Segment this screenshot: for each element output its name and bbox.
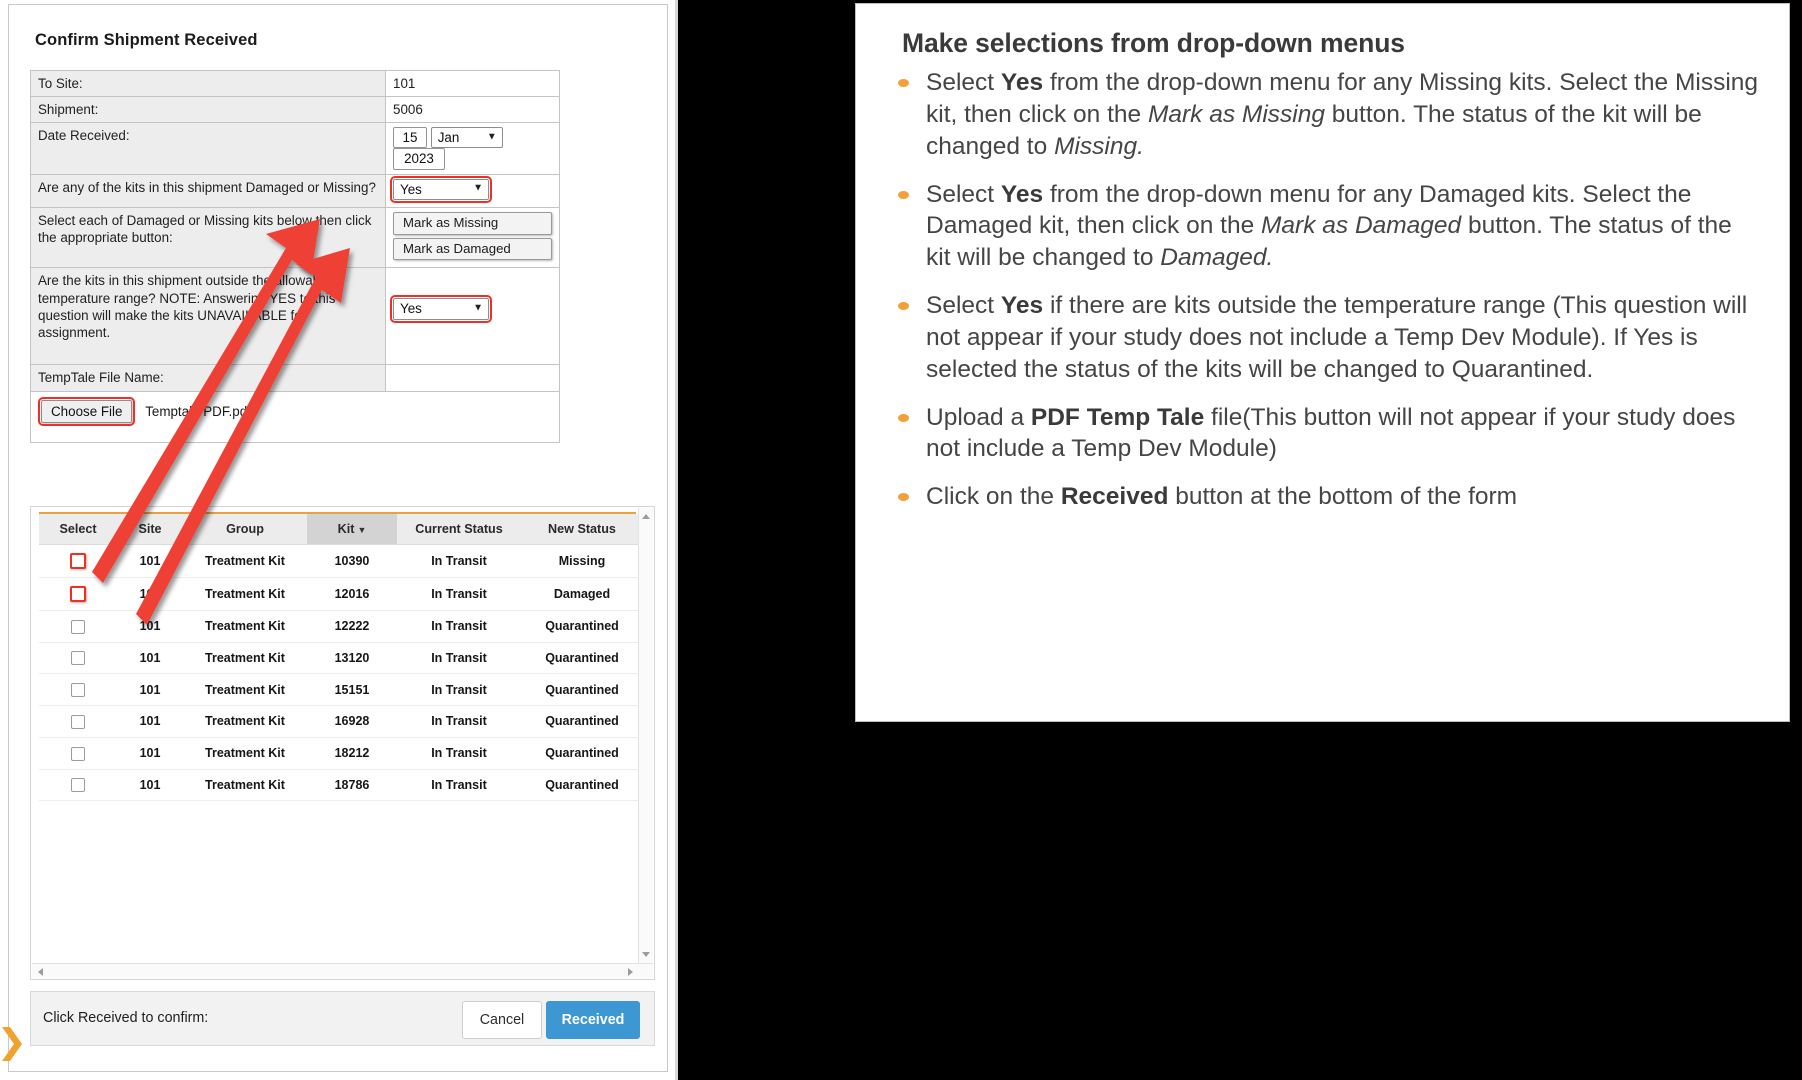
- kit-table: Select Site Group Kit▼ Current Status Ne…: [39, 514, 643, 801]
- uploaded-file-name: Temptale PDF.pdf: [145, 404, 251, 419]
- cell-site: 101: [117, 769, 183, 801]
- table-row[interactable]: 101Treatment Kit10390In TransitMissing: [39, 545, 643, 578]
- cell-new-status: Quarantined: [521, 706, 643, 738]
- row-select-cell[interactable]: [39, 674, 117, 706]
- date-received-label: Date Received:: [31, 123, 386, 174]
- mark-as-missing-button[interactable]: Mark as Missing: [393, 212, 552, 235]
- cell-site: 101: [117, 578, 183, 611]
- shipment-label: Shipment:: [31, 97, 386, 123]
- kit-table-body: 101Treatment Kit10390In TransitMissing10…: [39, 545, 643, 801]
- damaged-missing-dropdown-value: Yes: [400, 182, 422, 197]
- cell-new-status: Quarantined: [521, 642, 643, 674]
- table-row-date-received: Date Received: 15 Jan ▼ 2023: [31, 123, 560, 174]
- cell-current-status: In Transit: [397, 545, 521, 578]
- received-button[interactable]: Received: [546, 1001, 640, 1039]
- cell-site: 101: [117, 611, 183, 643]
- checkbox-icon[interactable]: [71, 715, 85, 729]
- cell-group: Treatment Kit: [183, 611, 307, 643]
- instructions-list: Select Yes from the drop-down menu for a…: [884, 67, 1759, 513]
- bullet-temp-b1: Yes: [1001, 292, 1043, 319]
- checkbox-icon[interactable]: [71, 778, 85, 792]
- cancel-button[interactable]: Cancel: [462, 1001, 542, 1039]
- table-row[interactable]: 101Treatment Kit12016In TransitDamaged: [39, 578, 643, 611]
- row-select-cell[interactable]: [39, 706, 117, 738]
- cell-new-status: Quarantined: [521, 769, 643, 801]
- bullet-damaged-i1: Mark as Damaged: [1261, 212, 1461, 239]
- cell-new-status: Quarantined: [521, 674, 643, 706]
- column-header-site[interactable]: Site: [117, 514, 183, 545]
- month-select-value: Jan: [438, 130, 460, 145]
- cell-current-status: In Transit: [397, 642, 521, 674]
- shipment-value: 5006: [386, 97, 560, 123]
- cell-group: Treatment Kit: [183, 769, 307, 801]
- table-row-damaged-question: Are any of the kits in this shipment Dam…: [31, 174, 560, 207]
- cell-kit: 18212: [307, 737, 397, 769]
- list-item-received: Click on the Received button at the bott…: [884, 481, 1759, 513]
- bullet-damaged-p1: Select: [926, 181, 1001, 208]
- orange-chevron-icon: [2, 1027, 22, 1061]
- cell-group: Treatment Kit: [183, 674, 307, 706]
- damaged-question-control: Yes ▼: [386, 174, 560, 207]
- temperature-range-dropdown-value: Yes: [400, 301, 422, 316]
- bullet-upload-b1: PDF Temp Tale: [1031, 404, 1204, 431]
- list-item-upload: Upload a PDF Temp Tale file(This button …: [884, 402, 1759, 466]
- to-site-label: To Site:: [31, 71, 386, 97]
- bullet-damaged-i2: Damaged.: [1160, 244, 1273, 271]
- shipment-form-screenshot: Confirm Shipment Received To Site: 101 S…: [0, 0, 678, 1080]
- bullet-upload-p1: Upload a: [926, 404, 1031, 431]
- cell-current-status: In Transit: [397, 737, 521, 769]
- bullet-missing-i2: Missing.: [1054, 133, 1144, 160]
- cell-site: 101: [117, 706, 183, 738]
- list-item-temperature: Select Yes if there are kits outside the…: [884, 290, 1759, 386]
- list-item-missing: Select Yes from the drop-down menu for a…: [884, 67, 1759, 163]
- bullet-dot-icon: [898, 493, 909, 501]
- to-site-value: 101: [386, 71, 560, 97]
- table-row-file-upload: Choose File Temptale PDF.pdf: [31, 391, 560, 442]
- chevron-down-icon: ▼: [473, 184, 483, 194]
- bullet-received-b1: Received: [1061, 483, 1169, 510]
- choose-file-button[interactable]: Choose File: [41, 400, 132, 423]
- temp-question-text: Are the kits in this shipment outside th…: [38, 273, 335, 339]
- month-select[interactable]: Jan ▼: [431, 127, 503, 148]
- table-row[interactable]: 101Treatment Kit15151In TransitQuarantin…: [39, 674, 643, 706]
- temptale-file-name-label: TempTale File Name:: [31, 365, 386, 391]
- scroll-up-icon[interactable]: [642, 514, 650, 519]
- cell-current-status: In Transit: [397, 769, 521, 801]
- bullet-missing-p1: Select: [926, 69, 1001, 96]
- bullet-temp-p1: Select: [926, 292, 1001, 319]
- table-row-shipment: Shipment: 5006: [31, 97, 560, 123]
- checkbox-icon[interactable]: [71, 620, 85, 634]
- temp-question-control: Yes ▼: [386, 268, 560, 365]
- footer-instruction-text: Click Received to confirm:: [43, 1010, 208, 1026]
- cell-current-status: In Transit: [397, 674, 521, 706]
- file-upload-cell: Choose File Temptale PDF.pdf: [31, 391, 560, 442]
- table-row[interactable]: 101Treatment Kit16928In TransitQuarantin…: [39, 706, 643, 738]
- checkbox-icon[interactable]: [71, 683, 85, 697]
- bullet-dot-icon: [898, 191, 909, 199]
- cell-group: Treatment Kit: [183, 737, 307, 769]
- table-row[interactable]: 101Treatment Kit12222In TransitQuarantin…: [39, 611, 643, 643]
- scroll-down-icon[interactable]: [642, 952, 650, 957]
- shipment-info-table: To Site: 101 Shipment: 5006 Date Receive…: [30, 70, 560, 443]
- cell-group: Treatment Kit: [183, 642, 307, 674]
- row-select-cell[interactable]: [39, 611, 117, 643]
- checkbox-icon[interactable]: [71, 651, 85, 665]
- table-row-to-site: To Site: 101: [31, 71, 560, 97]
- table-row[interactable]: 101Treatment Kit13120In TransitQuarantin…: [39, 642, 643, 674]
- kit-grid: Select Site Group Kit▼ Current Status Ne…: [30, 506, 655, 980]
- cell-new-status: Quarantined: [521, 611, 643, 643]
- table-row[interactable]: 101Treatment Kit18212In TransitQuarantin…: [39, 737, 643, 769]
- column-header-select[interactable]: Select: [39, 514, 117, 545]
- cell-kit: 10390: [307, 545, 397, 578]
- form-window: Confirm Shipment Received To Site: 101 S…: [8, 4, 668, 1072]
- column-header-group[interactable]: Group: [183, 514, 307, 545]
- damaged-question-label: Are any of the kits in this shipment Dam…: [31, 174, 386, 207]
- row-select-cell[interactable]: [39, 737, 117, 769]
- row-select-cell[interactable]: [39, 545, 117, 578]
- cell-site: 101: [117, 545, 183, 578]
- bullet-dot-icon: [898, 414, 909, 422]
- bullet-missing-i1: Mark as Missing: [1148, 101, 1325, 128]
- column-header-kit[interactable]: Kit▼: [307, 514, 397, 545]
- mark-as-damaged-button[interactable]: Mark as Damaged: [393, 238, 552, 261]
- cell-new-status: Quarantined: [521, 737, 643, 769]
- column-header-current-status[interactable]: Current Status: [397, 514, 521, 545]
- cell-current-status: In Transit: [397, 578, 521, 611]
- checkbox-icon[interactable]: [70, 586, 86, 602]
- form-footer: Click Received to confirm: Cancel Receiv…: [30, 991, 655, 1046]
- cell-site: 101: [117, 642, 183, 674]
- cell-kit: 12016: [307, 578, 397, 611]
- cell-group: Treatment Kit: [183, 578, 307, 611]
- instructions-title: Make selections from drop-down menus: [902, 28, 1759, 59]
- scroll-right-icon[interactable]: [628, 968, 633, 976]
- checkbox-icon[interactable]: [71, 747, 85, 761]
- table-row-mark-buttons: Select each of Damaged or Missing kits b…: [31, 207, 560, 268]
- temperature-range-dropdown[interactable]: Yes ▼: [393, 298, 489, 319]
- page-title: Confirm Shipment Received: [35, 31, 258, 50]
- chevron-down-icon: ▼: [487, 132, 497, 142]
- vertical-scrollbar[interactable]: [638, 508, 653, 963]
- table-row-temp-question: Are the kits in this shipment outside th…: [31, 268, 560, 365]
- bullet-temp-p2: if there are kits outside the temperatur…: [926, 292, 1747, 383]
- cell-kit: 15151: [307, 674, 397, 706]
- bullet-missing-b1: Yes: [1001, 69, 1043, 96]
- bullet-damaged-b1: Yes: [1001, 181, 1043, 208]
- scroll-left-icon[interactable]: [38, 968, 43, 976]
- instructions-panel: Make selections from drop-down menus Sel…: [855, 3, 1790, 722]
- year-input[interactable]: 2023: [393, 148, 445, 169]
- cell-kit: 13120: [307, 642, 397, 674]
- bullet-dot-icon: [898, 79, 909, 87]
- cell-group: Treatment Kit: [183, 545, 307, 578]
- bullet-dot-icon: [898, 302, 909, 310]
- date-received-controls: 15 Jan ▼ 2023: [386, 123, 560, 174]
- table-row-temptale-label: TempTale File Name:: [31, 365, 560, 391]
- checkbox-icon[interactable]: [70, 553, 86, 569]
- cell-group: Treatment Kit: [183, 706, 307, 738]
- cell-kit: 16928: [307, 706, 397, 738]
- cell-site: 101: [117, 674, 183, 706]
- column-header-kit-label: Kit: [338, 522, 355, 536]
- sort-descending-icon: ▼: [357, 525, 366, 535]
- table-row[interactable]: 101Treatment Kit18786In TransitQuarantin…: [39, 769, 643, 801]
- bullet-received-p2: button at the bottom of the form: [1168, 483, 1517, 510]
- cell-current-status: In Transit: [397, 611, 521, 643]
- horizontal-scrollbar[interactable]: [32, 963, 653, 978]
- column-header-new-status[interactable]: New Status: [521, 514, 643, 545]
- cell-new-status: Missing: [521, 545, 643, 578]
- row-select-cell[interactable]: [39, 769, 117, 801]
- chevron-down-icon: ▼: [473, 303, 483, 313]
- cell-kit: 12222: [307, 611, 397, 643]
- cell-current-status: In Transit: [397, 706, 521, 738]
- mark-buttons-cell: Mark as Missing Mark as Damaged: [386, 207, 560, 268]
- temp-question-label: Are the kits in this shipment outside th…: [31, 268, 386, 365]
- day-input[interactable]: 15: [393, 127, 427, 148]
- list-item-damaged: Select Yes from the drop-down menu for a…: [884, 179, 1759, 275]
- row-select-cell[interactable]: [39, 642, 117, 674]
- damaged-missing-dropdown[interactable]: Yes ▼: [393, 179, 489, 200]
- bullet-received-p1: Click on the: [926, 483, 1061, 510]
- cell-new-status: Damaged: [521, 578, 643, 611]
- temptale-spacer: [386, 365, 560, 391]
- cell-site: 101: [117, 737, 183, 769]
- row-select-cell[interactable]: [39, 578, 117, 611]
- mark-buttons-label: Select each of Damaged or Missing kits b…: [31, 207, 386, 268]
- kit-table-header-row: Select Site Group Kit▼ Current Status Ne…: [39, 514, 643, 545]
- cell-kit: 18786: [307, 769, 397, 801]
